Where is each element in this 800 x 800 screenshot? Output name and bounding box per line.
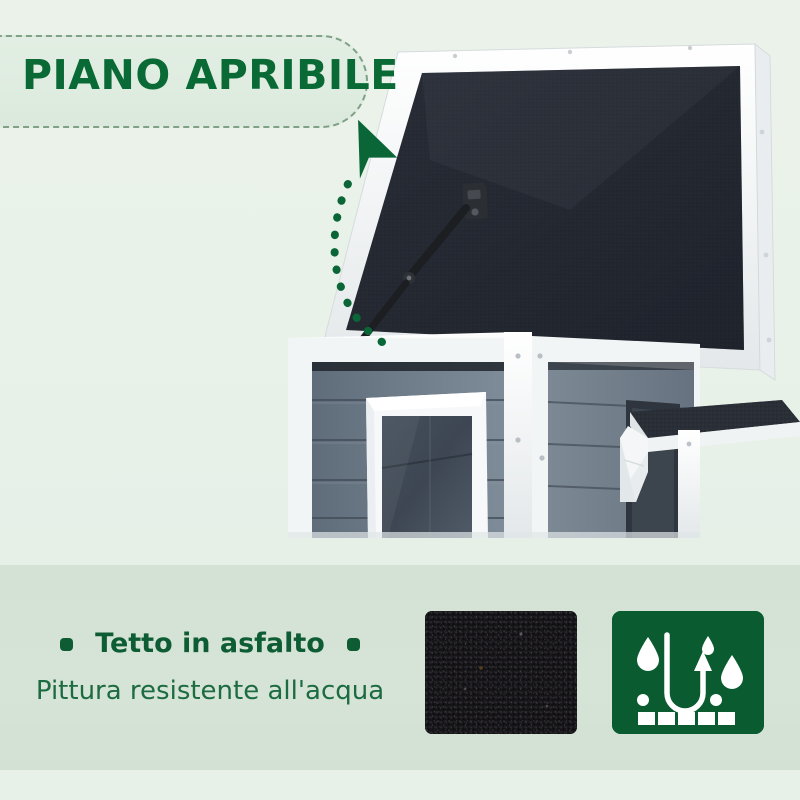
curved-dotted-arrow: [320, 110, 440, 350]
bullet-right-icon: [347, 638, 360, 651]
background-band-footer: [0, 770, 800, 800]
feature-headline-text: Tetto in asfalto: [95, 628, 325, 659]
bullet-left-icon: [60, 638, 73, 651]
surface-tiles: [638, 712, 735, 725]
droplet-dot-left: [637, 694, 649, 706]
droplet-dot-right: [710, 694, 722, 706]
asphalt-texture-swatch: [425, 611, 577, 734]
arrowhead: [350, 120, 402, 184]
feature-headline: Tetto in asfalto: [0, 628, 420, 659]
page-title: PIANO APRIBILE: [22, 55, 399, 96]
water-resistant-icon: [612, 611, 764, 734]
feature-subline: Pittura resistente all'acqua: [0, 676, 420, 706]
infographic-page: PIANO APRIBILE Tetto in asfalto Pittura …: [0, 0, 800, 800]
